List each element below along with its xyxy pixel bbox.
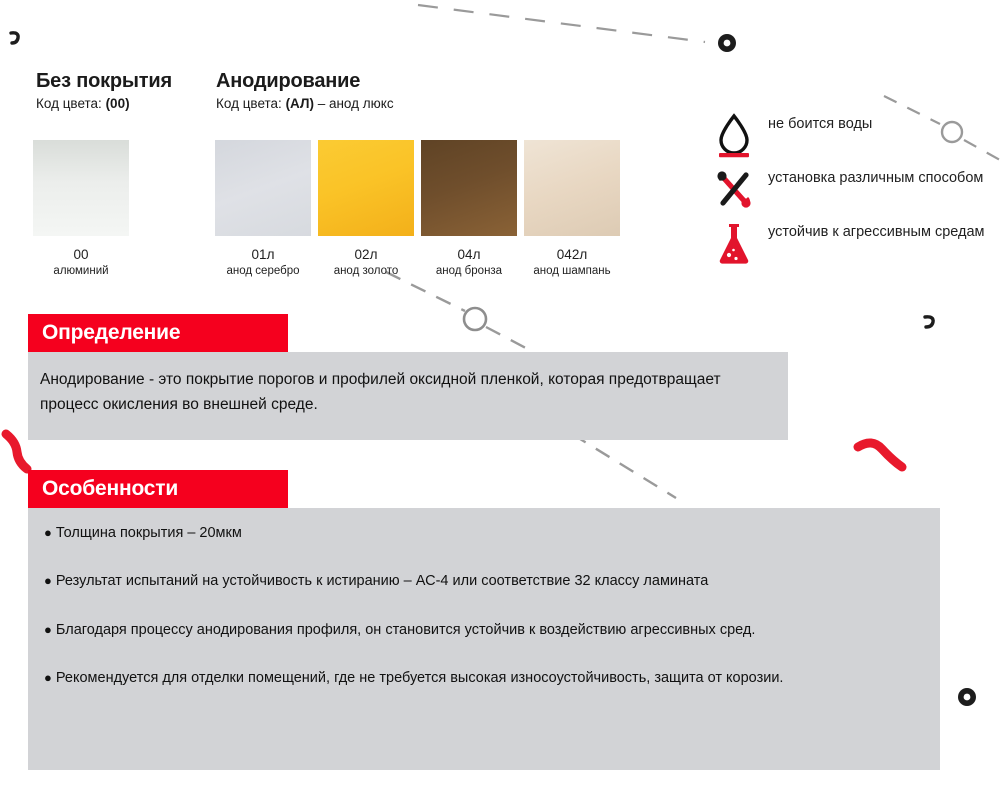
wrench-screwdriver-icon [712, 166, 756, 210]
swatch-label-02l: 02л анод золото [312, 247, 420, 278]
features-heading: Особенности [28, 470, 288, 508]
list-item-text: Толщина покрытия – 20мкм [56, 525, 242, 541]
swatch-code: 04л [415, 247, 523, 264]
feature-label: не боится воды [768, 112, 992, 133]
feature-label: установка различным способом [768, 166, 992, 187]
swatch-name: анод золото [312, 264, 420, 278]
hook-mark-right [925, 317, 933, 327]
dot-donut-top [718, 34, 736, 52]
group-subtitle-code: (АЛ) [286, 96, 314, 111]
flask-icon [712, 220, 756, 264]
group-subtitle: Код цвета: (00) [36, 96, 172, 111]
group-title: Без покрытия [36, 70, 172, 93]
swatch-label-04l: 04л анод бронза [415, 247, 523, 278]
feature-row-install: установка различным способом [712, 166, 992, 212]
bullet-icon: ● [44, 622, 52, 637]
swatch-code: 02л [312, 247, 420, 264]
dashed-line-top [418, 5, 705, 42]
swatch-name: анод бронза [415, 264, 523, 278]
water-drop-icon [712, 112, 756, 156]
bullet-icon: ● [44, 525, 52, 540]
definition-text: Анодирование - это покрытие порогов и пр… [40, 368, 770, 418]
hook-mark-top-left [11, 33, 18, 43]
swatch-name: анод серебро [209, 264, 317, 278]
swatch-label-00: 00 алюминий [27, 247, 135, 278]
feature-row-chemical: устойчив к агрессивным средам [712, 220, 992, 266]
group-title: Анодирование [216, 70, 394, 93]
bullet-icon: ● [44, 573, 52, 588]
list-item: ● Рекомендуется для отделки помещений, г… [44, 667, 934, 689]
list-item: ● Результат испытаний на устойчивость к … [44, 570, 934, 592]
list-item-text: Результат испытаний на устойчивость к ис… [56, 573, 708, 589]
group-subtitle-suffix: – анод люкс [314, 96, 394, 111]
group-subtitle-prefix: Код цвета: [216, 96, 286, 111]
swatch-code: 00 [27, 247, 135, 264]
group-subtitle-prefix: Код цвета: [36, 96, 106, 111]
feature-label: устойчив к агрессивным средам [768, 220, 992, 241]
swatch-042l[interactable] [524, 140, 620, 236]
dot-donut-bottom [958, 688, 976, 706]
swatch-code: 01л [209, 247, 317, 264]
list-item-text: Благодаря процессу анодирования профиля,… [56, 622, 756, 638]
swatch-name: анод шампань [518, 264, 626, 278]
swatch-00[interactable] [33, 140, 129, 236]
swatch-label-042l: 042л анод шампань [518, 247, 626, 278]
swatch-04l[interactable] [421, 140, 517, 236]
swatch-code: 042л [518, 247, 626, 264]
infographic-page: Без покрытия Код цвета: (00) 00 алюминий… [0, 0, 1000, 800]
dashed-line-mid-c [572, 434, 676, 498]
swatch-01l[interactable] [215, 140, 311, 236]
list-item-text: Рекомендуется для отделки помещений, где… [56, 670, 784, 686]
group-no-coating: Без покрытия Код цвета: (00) [36, 70, 172, 111]
swatch-label-01l: 01л анод серебро [209, 247, 317, 278]
feature-row-water: не боится воды [712, 112, 992, 158]
group-subtitle-code: (00) [106, 96, 130, 111]
swatch-name: алюминий [27, 264, 135, 278]
list-item: ● Благодаря процессу анодирования профил… [44, 619, 934, 641]
bullet-icon: ● [44, 670, 52, 685]
definition-heading: Определение [28, 314, 288, 352]
group-subtitle: Код цвета: (АЛ) – анод люкс [216, 96, 394, 111]
group-anodizing: Анодирование Код цвета: (АЛ) – анод люкс [216, 70, 394, 111]
swatch-02l[interactable] [318, 140, 414, 236]
red-squiggle-right [858, 443, 902, 467]
feature-icon-list: не боится воды установка различным сп [712, 112, 992, 274]
list-item: ● Толщина покрытия – 20мкм [44, 522, 934, 544]
red-squiggle-left [6, 434, 27, 469]
ring-mid [464, 308, 486, 330]
features-list: ● Толщина покрытия – 20мкм ● Результат и… [44, 522, 934, 690]
